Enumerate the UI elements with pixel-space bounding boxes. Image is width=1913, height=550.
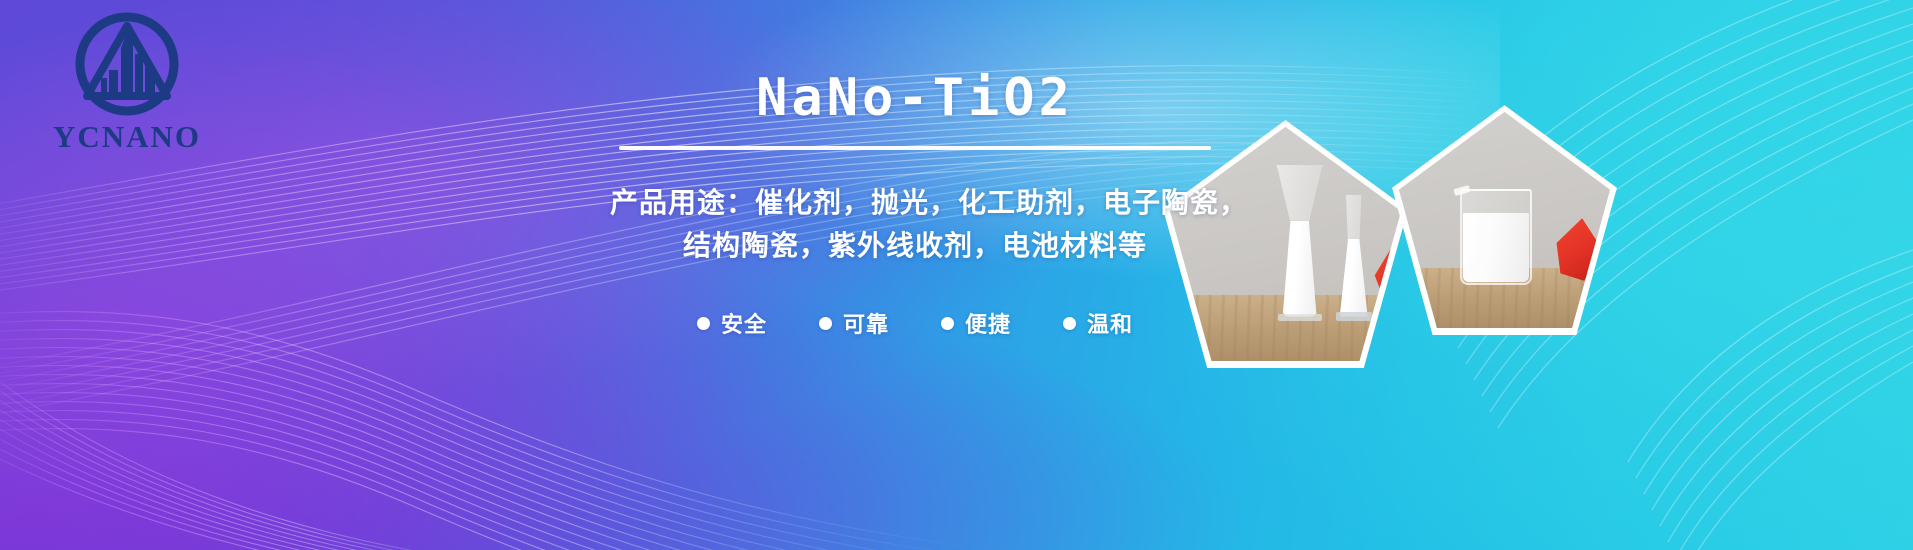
feature-item-reliable: 可靠 bbox=[819, 307, 889, 339]
beaker-liquid bbox=[1463, 213, 1529, 282]
feature-list: 安全 可靠 便捷 温和 bbox=[697, 307, 1133, 339]
feature-item-mild: 温和 bbox=[1063, 307, 1133, 339]
feature-label: 安全 bbox=[721, 307, 767, 339]
ycnano-triangle-circle-mark bbox=[71, 8, 183, 120]
bullet-dot-icon bbox=[697, 317, 710, 330]
product-photo-beaker bbox=[1392, 105, 1617, 335]
feature-item-safe: 安全 bbox=[697, 307, 767, 339]
glass-beaker bbox=[1460, 189, 1532, 285]
feature-label: 可靠 bbox=[843, 307, 889, 339]
feature-item-convenient: 便捷 bbox=[941, 307, 1011, 339]
feature-label: 温和 bbox=[1087, 307, 1133, 339]
bullet-dot-icon bbox=[1063, 317, 1076, 330]
bullet-dot-icon bbox=[819, 317, 832, 330]
usage-line-2: 结构陶瓷，紫外线收剂，电池材料等 bbox=[610, 225, 1220, 268]
usage-line-1: 产品用途：催化剂，抛光，化工助剂，电子陶瓷， bbox=[610, 182, 1220, 225]
bullet-dot-icon bbox=[941, 317, 954, 330]
product-title: NaNo-TiO2 bbox=[756, 72, 1074, 124]
feature-label: 便捷 bbox=[965, 307, 1011, 339]
company-logo[interactable]: YCNANO bbox=[32, 8, 222, 152]
banner-content: NaNo-TiO2 产品用途：催化剂，抛光，化工助剂，电子陶瓷， 结构陶瓷，紫外… bbox=[470, 0, 1360, 550]
photo-image bbox=[1399, 112, 1610, 328]
product-usage-text: 产品用途：催化剂，抛光，化工助剂，电子陶瓷， 结构陶瓷，紫外线收剂，电池材料等 bbox=[610, 182, 1220, 267]
title-divider bbox=[619, 146, 1211, 150]
product-banner: YCNANO NaNo-TiO2 产品用途：催化剂，抛光，化工助剂，电子陶瓷， … bbox=[0, 0, 1913, 550]
logo-wordmark: YCNANO bbox=[32, 121, 222, 152]
